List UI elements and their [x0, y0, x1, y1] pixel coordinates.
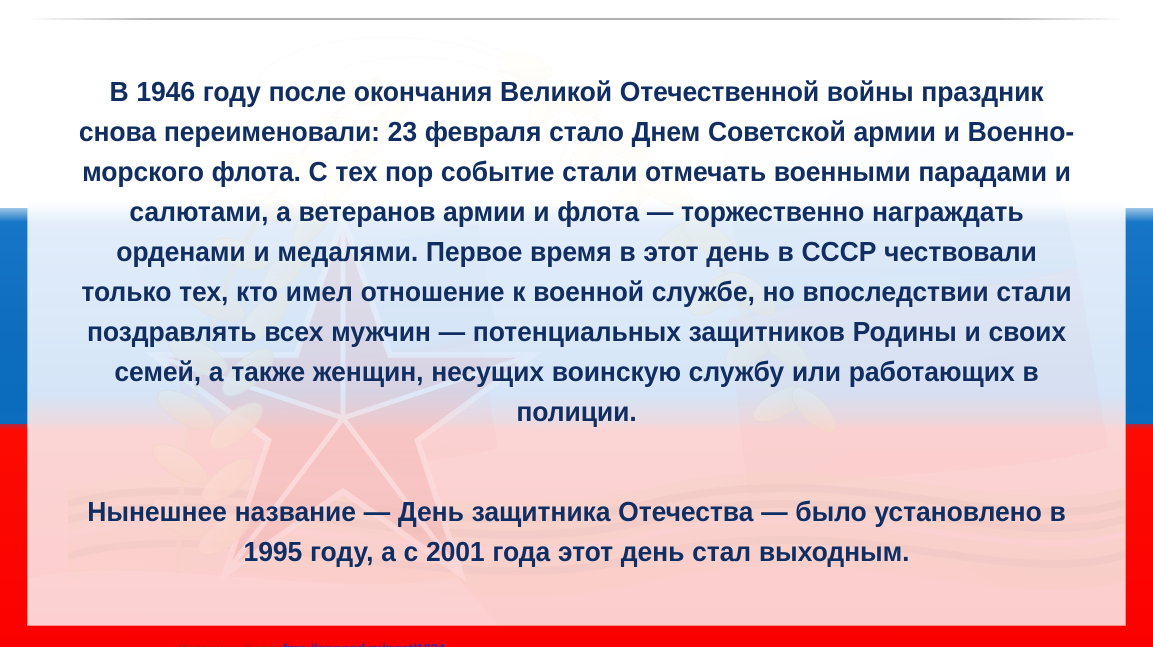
photo-credit-prefix: Источник фото:	[178, 641, 279, 647]
white-highlight	[28, 571, 498, 625]
photo-credit-link[interactable]: fms://gooood.ru/post/1234	[283, 641, 446, 647]
content-panel: В 1946 году после окончания Великой Отеч…	[28, 18, 1125, 625]
paragraph-history: В 1946 году после окончания Великой Отеч…	[68, 72, 1084, 432]
photo-credit: Источник фото: fms://gooood.ru/post/1234	[178, 641, 445, 647]
body-copy: В 1946 году после окончания Великой Отеч…	[28, 72, 1125, 572]
slide-canvas: В 1946 году после окончания Великой Отеч…	[0, 0, 1153, 647]
paragraph-current-name: Нынешнее название — День защитника Отече…	[68, 492, 1084, 572]
panel-top-rule	[28, 18, 1125, 20]
credit-strip: Источник фото: fms://gooood.ru/post/1234	[0, 631, 1153, 647]
